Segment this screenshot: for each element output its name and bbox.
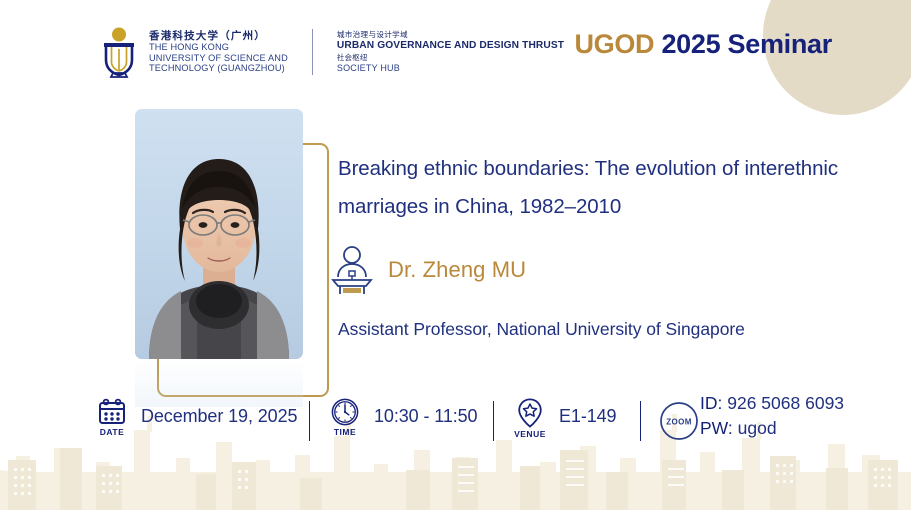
date-caption: DATE <box>100 427 125 437</box>
svg-text:ZOOM: ZOOM <box>666 418 692 427</box>
venue-value: E1-149 <box>559 406 616 427</box>
institution-name: 香港科技大学（广州） THE HONG KONG UNIVERSITY OF S… <box>149 31 288 74</box>
institution-name-en-2: UNIVERSITY OF SCIENCE AND <box>149 53 288 63</box>
thrust-name-en: URBAN GOVERNANCE AND DESIGN THRUST <box>337 40 564 52</box>
info-separator-1 <box>309 401 310 441</box>
society-hub-en: SOCIETY HUB <box>337 63 564 74</box>
location-pin-icon <box>517 398 543 428</box>
zoom-icon: ZOOM <box>658 400 700 442</box>
venue-icon-group: VENUE <box>510 398 550 439</box>
zoom-pw-value: ugod <box>738 418 777 438</box>
seminar-title-year: 2025 Seminar <box>661 29 832 59</box>
event-info-bar: DATE December 19, 2025 <box>0 396 911 458</box>
zoom-id-label: ID: <box>700 393 722 413</box>
institution-name-en-1: THE HONG KONG <box>149 42 288 52</box>
hkust-gz-logo-icon <box>100 26 138 78</box>
calendar-icon <box>97 398 127 426</box>
thrust-name-block: 城市治理与设计学域 URBAN GOVERNANCE AND DESIGN TH… <box>337 30 564 73</box>
seminar-poster: 香港科技大学（广州） THE HONG KONG UNIVERSITY OF S… <box>0 0 911 510</box>
speaker-portrait <box>135 109 303 359</box>
logo-divider <box>312 29 313 75</box>
seminar-series-title: UGOD 2025 Seminar <box>574 29 832 60</box>
thrust-name-cn: 城市治理与设计学域 <box>337 30 564 39</box>
time-icon-group: TIME <box>325 398 365 437</box>
info-item-time: TIME 10:30 - 11:50 <box>325 398 477 437</box>
info-item-date: DATE December 19, 2025 <box>92 398 297 437</box>
zoom-pw-label: PW: <box>700 418 733 438</box>
zoom-id-line: ID: 926 5068 6093 <box>700 391 844 416</box>
info-separator-3 <box>640 401 641 441</box>
venue-caption: VENUE <box>514 429 546 439</box>
zoom-pw-line: PW: ugod <box>700 416 844 441</box>
info-item-venue: VENUE E1-149 <box>510 398 616 439</box>
speaker-photo-container <box>135 109 303 359</box>
zoom-details: ID: 926 5068 6093 PW: ugod <box>700 391 844 441</box>
date-value: December 19, 2025 <box>141 406 297 427</box>
speaker-name: Dr. Zheng MU <box>388 257 526 283</box>
talk-title: Breaking ethnic boundaries: The evolutio… <box>338 150 838 226</box>
clock-icon <box>330 398 360 426</box>
institution-name-cn: 香港科技大学（广州） <box>149 31 288 43</box>
zoom-id-value: 926 5068 6093 <box>727 393 844 413</box>
date-icon-group: DATE <box>92 398 132 437</box>
speaker-row: Dr. Zheng MU <box>330 244 526 296</box>
seminar-title-ugod: UGOD <box>574 29 654 59</box>
speaker-podium-icon <box>330 244 374 296</box>
society-hub-cn: 社会枢纽 <box>337 54 564 63</box>
institution-name-en-3: TECHNOLOGY (GUANGZHOU) <box>149 63 288 73</box>
institution-logo-block: 香港科技大学（广州） THE HONG KONG UNIVERSITY OF S… <box>100 26 564 78</box>
info-separator-2 <box>493 401 494 441</box>
speaker-affiliation: Assistant Professor, National University… <box>338 319 745 340</box>
info-item-zoom: ZOOM <box>658 400 700 442</box>
time-value: 10:30 - 11:50 <box>374 406 477 427</box>
time-caption: TIME <box>334 427 356 437</box>
poster-header: 香港科技大学（广州） THE HONG KONG UNIVERSITY OF S… <box>0 0 911 96</box>
